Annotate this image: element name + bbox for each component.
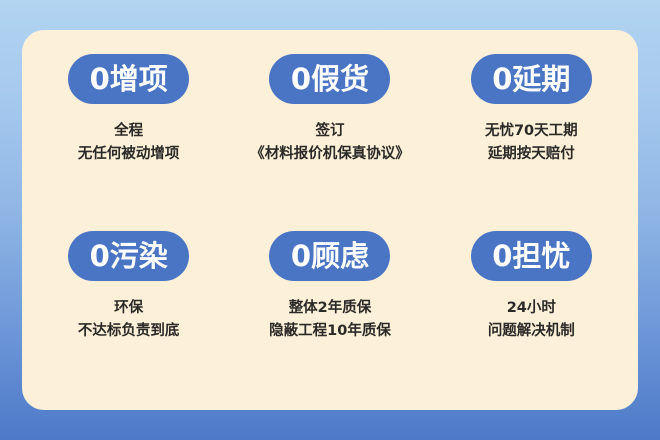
caption-line: 隐蔽工程10年质保: [269, 320, 391, 343]
guarantee-item-zero-fakes: 0假货 签订 《材料报价机保真协议》: [229, 42, 430, 219]
caption-line: 问题解决机制: [488, 320, 575, 343]
guarantee-item-zero-delay: 0延期 无忧70天工期 延期按天赔付: [431, 42, 632, 219]
guarantee-item-zero-worries: 0顾虑 整体2年质保 隐蔽工程10年质保: [229, 219, 430, 396]
badge-zero-fakes: 0假货: [269, 54, 390, 104]
caption-line: 无任何被动增项: [78, 143, 180, 166]
badge-label: 0污染: [90, 242, 168, 271]
caption-line: 签订: [250, 120, 410, 143]
caption-zero-fakes: 签订 《材料报价机保真协议》: [250, 120, 410, 167]
guarantee-item-zero-add-ons: 0增项 全程 无任何被动增项: [28, 42, 229, 219]
caption-line: 《材料报价机保真协议》: [250, 143, 410, 166]
caption-zero-worries: 整体2年质保 隐蔽工程10年质保: [269, 297, 391, 344]
badge-label: 0增项: [90, 65, 168, 94]
badge-zero-concerns: 0担忧: [471, 231, 592, 281]
badge-zero-add-ons: 0增项: [68, 54, 189, 104]
caption-line: 不达标负责到底: [78, 320, 180, 343]
badge-label: 0延期: [492, 65, 570, 94]
guarantee-item-zero-concerns: 0担忧 24小时 问题解决机制: [431, 219, 632, 396]
caption-zero-delay: 无忧70天工期 延期按天赔付: [485, 120, 578, 167]
caption-line: 全程: [78, 120, 180, 143]
guarantee-grid: 0增项 全程 无任何被动增项 0假货 签订 《材料报价机保真协议》 0延期: [22, 30, 638, 410]
badge-label: 0顾虑: [291, 242, 369, 271]
badge-zero-delay: 0延期: [471, 54, 592, 104]
caption-line: 24小时: [488, 297, 575, 320]
caption-zero-concerns: 24小时 问题解决机制: [488, 297, 575, 344]
caption-line: 整体2年质保: [269, 297, 391, 320]
caption-line: 延期按天赔付: [485, 143, 578, 166]
promo-card: 0增项 全程 无任何被动增项 0假货 签订 《材料报价机保真协议》 0延期: [22, 30, 638, 410]
badge-label: 0担忧: [492, 242, 570, 271]
caption-zero-pollution: 环保 不达标负责到底: [78, 297, 180, 344]
caption-line: 无忧70天工期: [485, 120, 578, 143]
caption-zero-add-ons: 全程 无任何被动增项: [78, 120, 180, 167]
caption-line: 环保: [78, 297, 180, 320]
badge-label: 0假货: [291, 65, 369, 94]
badge-zero-pollution: 0污染: [68, 231, 189, 281]
guarantee-item-zero-pollution: 0污染 环保 不达标负责到底: [28, 219, 229, 396]
promo-poster: 0增项 全程 无任何被动增项 0假货 签订 《材料报价机保真协议》 0延期: [0, 0, 660, 440]
badge-zero-worries: 0顾虑: [269, 231, 390, 281]
